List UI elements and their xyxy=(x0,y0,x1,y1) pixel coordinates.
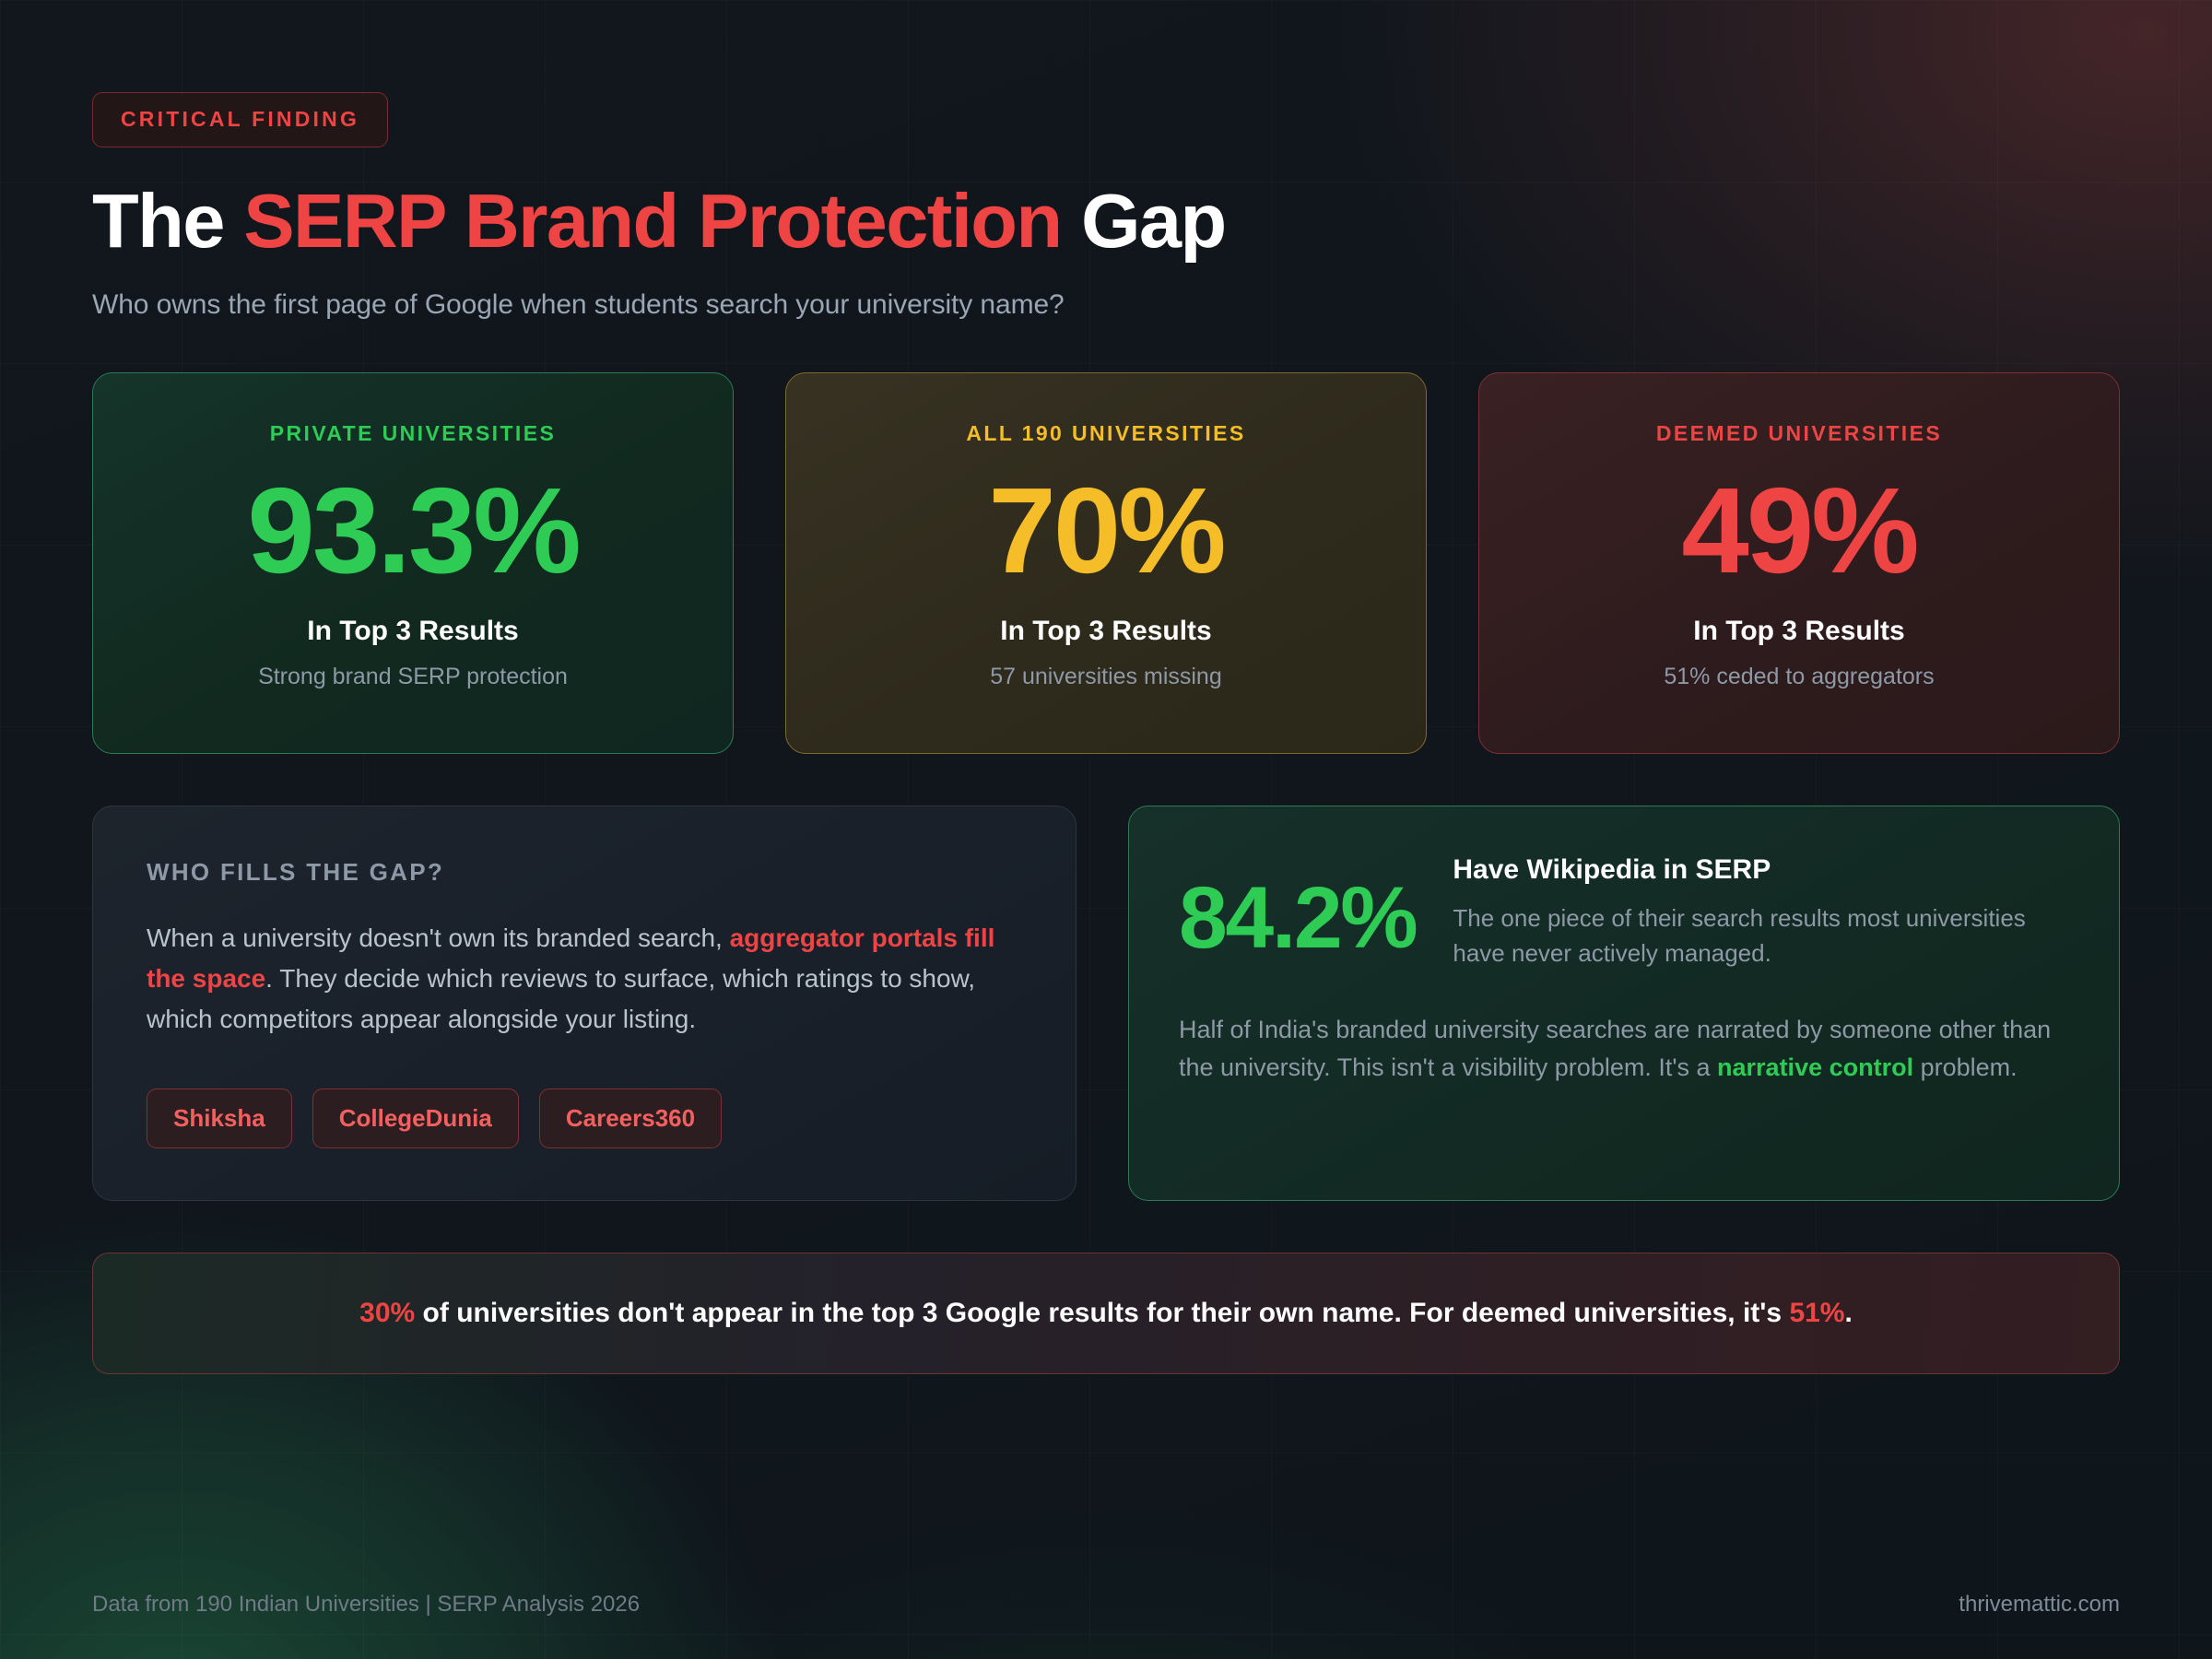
summary-banner: 30% of universities don't appear in the … xyxy=(92,1253,2120,1374)
card-value: 49% xyxy=(1681,459,1916,603)
footer: Data from 190 Indian Universities | SERP… xyxy=(92,1592,2120,1618)
page-title: The SERP Brand Protection Gap xyxy=(92,181,2120,262)
banner-end-text: . xyxy=(1844,1298,1852,1328)
card-subtitle: In Top 3 Results xyxy=(1693,616,1904,647)
card-label: PRIVATE UNIVERSITIES xyxy=(270,421,556,446)
metric-card-private-universities: PRIVATE UNIVERSITIES 93.3% In Top 3 Resu… xyxy=(92,372,734,754)
page-subtitle: Who owns the first page of Google when s… xyxy=(92,289,2120,321)
wiki-stat-value: 84.2% xyxy=(1179,851,1416,962)
tag-collegedunia[interactable]: CollegeDunia xyxy=(312,1088,519,1148)
card-note: 51% ceded to aggregators xyxy=(1664,664,1934,690)
title-accent: SERP Brand Protection xyxy=(243,178,1061,264)
metric-card-all-universities: ALL 190 UNIVERSITIES 70% In Top 3 Result… xyxy=(785,372,1427,754)
wiki-footer-highlight: narrative control xyxy=(1717,1053,1913,1081)
wiki-text-block: Have Wikipedia in SERP The one piece of … xyxy=(1453,851,2069,971)
panel-body: When a university doesn't own its brande… xyxy=(147,918,1022,1041)
content-wrapper: CRITICAL FINDING The SERP Brand Protecti… xyxy=(0,0,2212,1374)
panels-row: WHO FILLS THE GAP? When a university doe… xyxy=(92,806,2120,1201)
title-pre: The xyxy=(92,178,243,264)
card-note: Strong brand SERP protection xyxy=(258,664,568,690)
infographic-canvas: CRITICAL FINDING The SERP Brand Protecti… xyxy=(0,0,2212,1659)
body-text-part1: When a university doesn't own its brande… xyxy=(147,924,730,952)
who-fills-the-gap-panel: WHO FILLS THE GAP? When a university doe… xyxy=(92,806,1077,1201)
banner-mid-text: of universities don't appear in the top … xyxy=(415,1298,1789,1328)
wiki-footer-text: Half of India's branded university searc… xyxy=(1179,1011,2069,1087)
metric-card-deemed-universities: DEEMED UNIVERSITIES 49% In Top 3 Results… xyxy=(1478,372,2120,754)
card-value: 70% xyxy=(988,459,1223,603)
aggregator-tags: Shiksha CollegeDunia Careers360 xyxy=(147,1088,1022,1148)
tag-careers360[interactable]: Careers360 xyxy=(539,1088,722,1148)
wiki-description: The one piece of their search results mo… xyxy=(1453,900,2069,971)
body-text-part2: . They decide which reviews to surface, … xyxy=(147,964,975,1033)
critical-finding-badge: CRITICAL FINDING xyxy=(92,92,388,147)
card-subtitle: In Top 3 Results xyxy=(307,616,518,647)
card-label: DEEMED UNIVERSITIES xyxy=(1656,421,1942,446)
tag-shiksha[interactable]: Shiksha xyxy=(147,1088,292,1148)
card-subtitle: In Top 3 Results xyxy=(1000,616,1211,647)
card-label: ALL 190 UNIVERSITIES xyxy=(966,421,1245,446)
banner-stat-1: 30% xyxy=(359,1298,415,1328)
wiki-footer-part2: problem. xyxy=(1913,1053,2018,1081)
metric-cards-row: PRIVATE UNIVERSITIES 93.3% In Top 3 Resu… xyxy=(92,372,2120,754)
footer-source: Data from 190 Indian Universities | SERP… xyxy=(92,1592,640,1618)
banner-stat-2: 51% xyxy=(1789,1298,1844,1328)
card-value: 93.3% xyxy=(247,459,578,603)
panel-heading: WHO FILLS THE GAP? xyxy=(147,858,1022,887)
footer-brand: thrivemattic.com xyxy=(1959,1592,2120,1618)
wiki-top-row: 84.2% Have Wikipedia in SERP The one pie… xyxy=(1179,851,2069,971)
wikipedia-serp-panel: 84.2% Have Wikipedia in SERP The one pie… xyxy=(1128,806,2120,1201)
card-note: 57 universities missing xyxy=(990,664,1222,690)
title-post: Gap xyxy=(1062,178,1226,264)
wiki-title: Have Wikipedia in SERP xyxy=(1453,854,2069,886)
